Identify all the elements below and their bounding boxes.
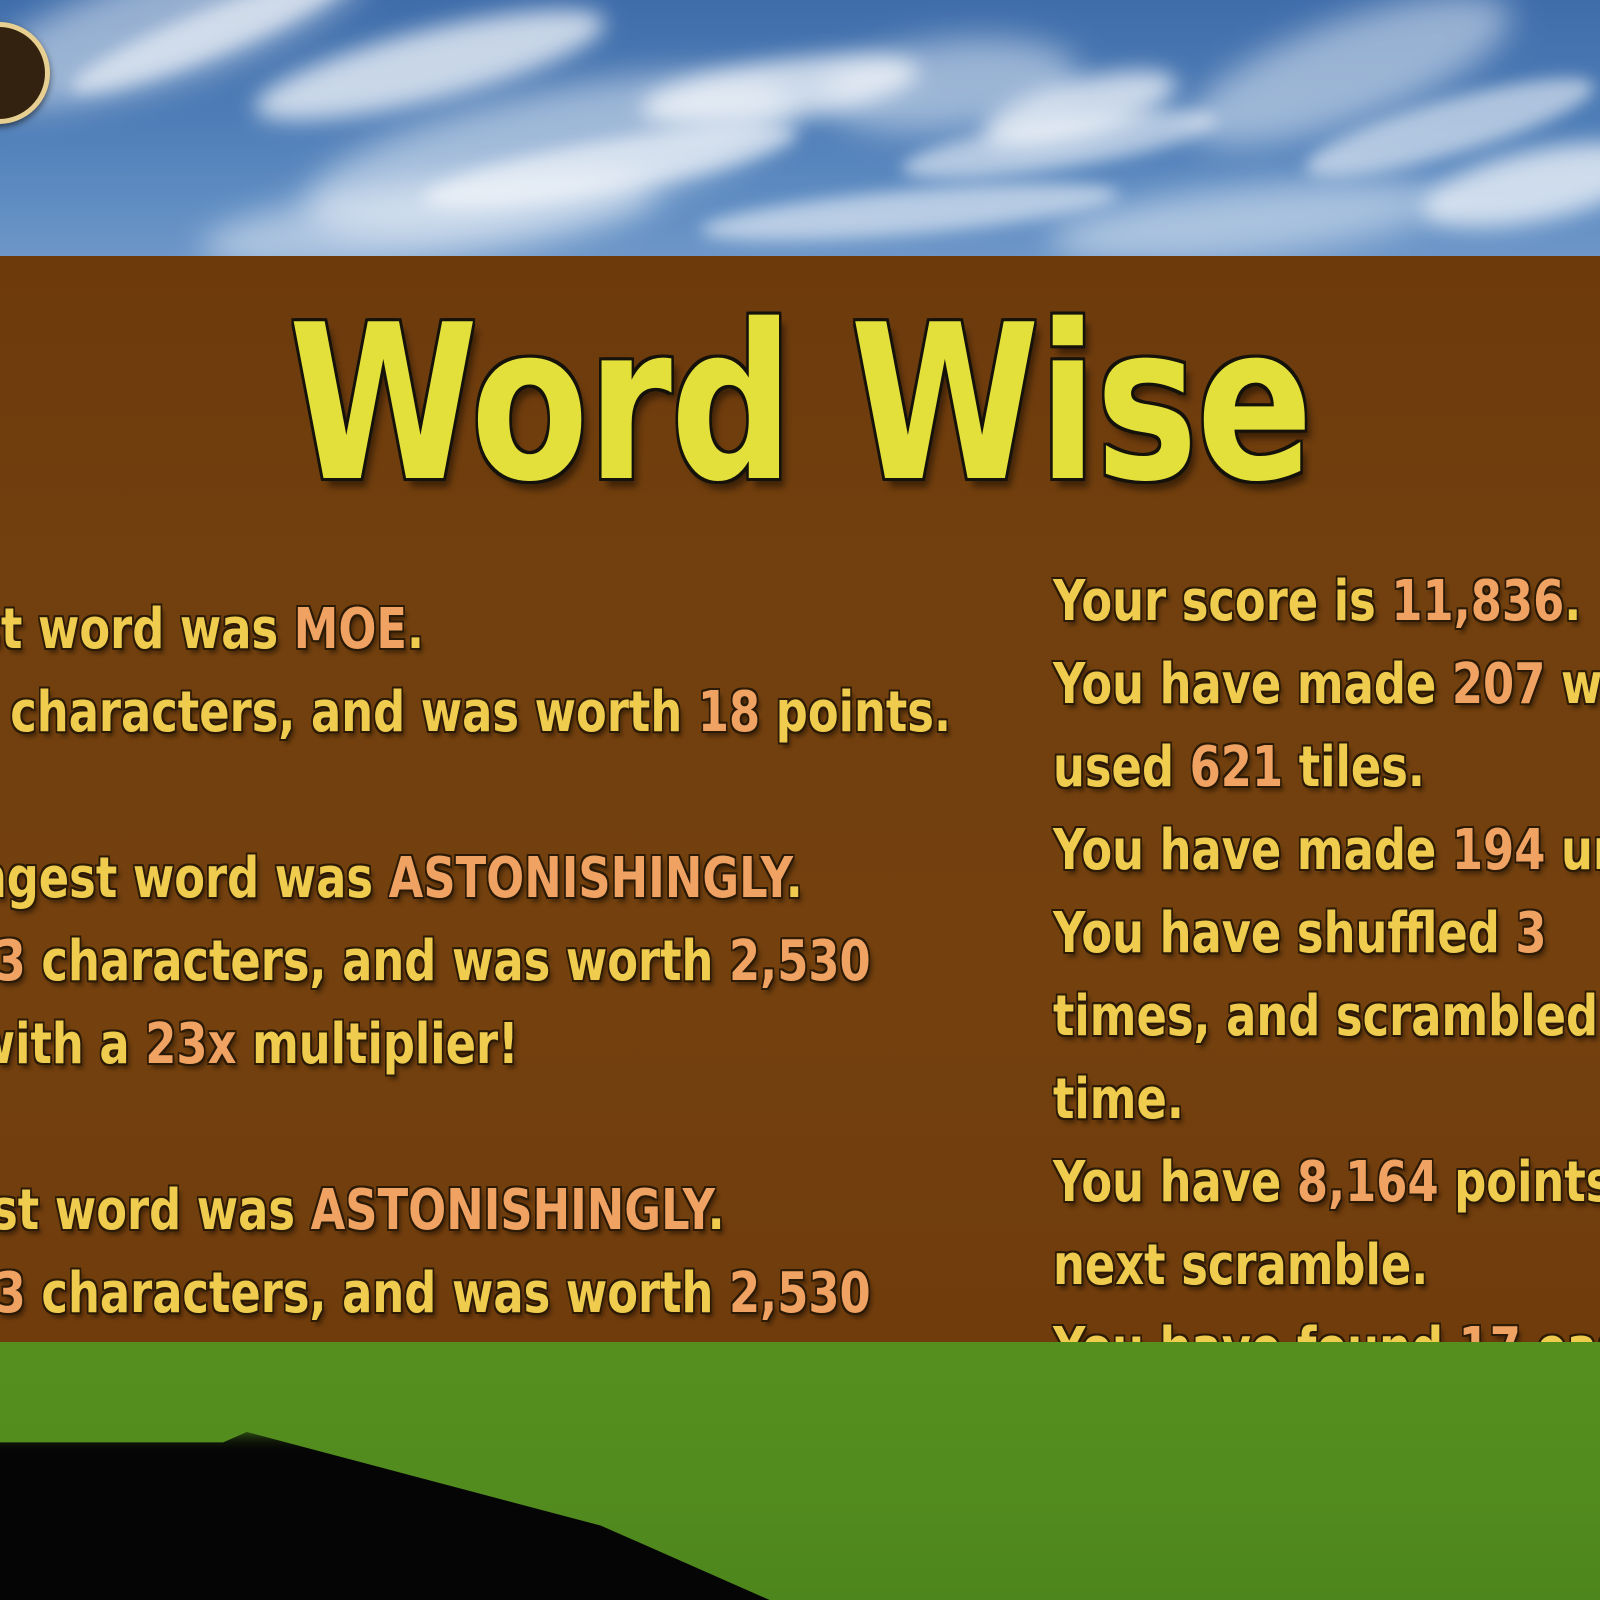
game-summary-screen: Word Wise Your last word was MOE. It had…: [0, 0, 1600, 1600]
best-word-line-3: points with a 23x multiplier!: [0, 1335, 800, 1342]
page-title: Word Wise: [160, 296, 1440, 511]
easter-eggs-line: You have found 17 easter eggs.: [1053, 1307, 1600, 1342]
longest-word-multiplier: 23x: [145, 1012, 236, 1077]
spacer: [0, 1086, 800, 1169]
longest-word-line-2: It had 13 characters, and was worth 2,53…: [0, 920, 800, 1003]
best-word-points: 2,530: [729, 1261, 871, 1326]
score-value: 11,836: [1391, 569, 1564, 634]
unique-words-value: 194: [1452, 818, 1546, 883]
best-word-line-2: It had 13 characters, and was worth 2,53…: [0, 1252, 800, 1335]
longest-word-line-3: points with a 23x multiplier!: [0, 1003, 800, 1086]
last-word-value: MOE: [294, 597, 407, 662]
longest-word-char-count: 13: [0, 929, 26, 994]
last-word-points: 18: [698, 680, 760, 745]
score-line: Your score is 11,836.: [1053, 560, 1600, 643]
best-word-char-count: 13: [0, 1261, 26, 1326]
best-word-value: ASTONISHINGLY: [311, 1178, 708, 1243]
sky-background: [0, 0, 1600, 256]
shuffle-count-value: 3: [1515, 901, 1546, 966]
word-stats-column: Your last word was MOE. It had 3 charact…: [0, 588, 800, 1342]
best-word-line-1: Your best word was ASTONISHINGLY.: [0, 1169, 800, 1252]
easter-eggs-value: 17: [1459, 1316, 1521, 1342]
longest-word-value: ASTONISHINGLY: [389, 846, 786, 911]
unique-words-line: You have made 194 unique words.: [1053, 809, 1600, 892]
next-scramble-points-value: 8,164: [1297, 1150, 1439, 1215]
shuffles-scrambles-line: You have shuffled 3 times, and scrambled…: [1053, 892, 1600, 1141]
longest-word-points: 2,530: [729, 929, 871, 994]
tiles-used-value: 621: [1190, 735, 1284, 800]
summary-panel: Word Wise Your last word was MOE. It had…: [0, 256, 1600, 1342]
last-word-line-2: It had 3 characters, and was worth 18 po…: [0, 671, 800, 754]
words-made-value: 207: [1452, 652, 1546, 717]
next-scramble-line: You have 8,164 points until your next sc…: [1053, 1141, 1600, 1307]
words-and-tiles-line: You have made 207 words and used 621 til…: [1053, 643, 1600, 809]
game-stats-column: Your score is 11,836. You have made 207 …: [1053, 560, 1600, 1342]
last-word-line-1: Your last word was MOE.: [0, 588, 800, 671]
longest-word-line-1: Your longest word was ASTONISHINGLY.: [0, 837, 800, 920]
spacer: [0, 754, 800, 837]
